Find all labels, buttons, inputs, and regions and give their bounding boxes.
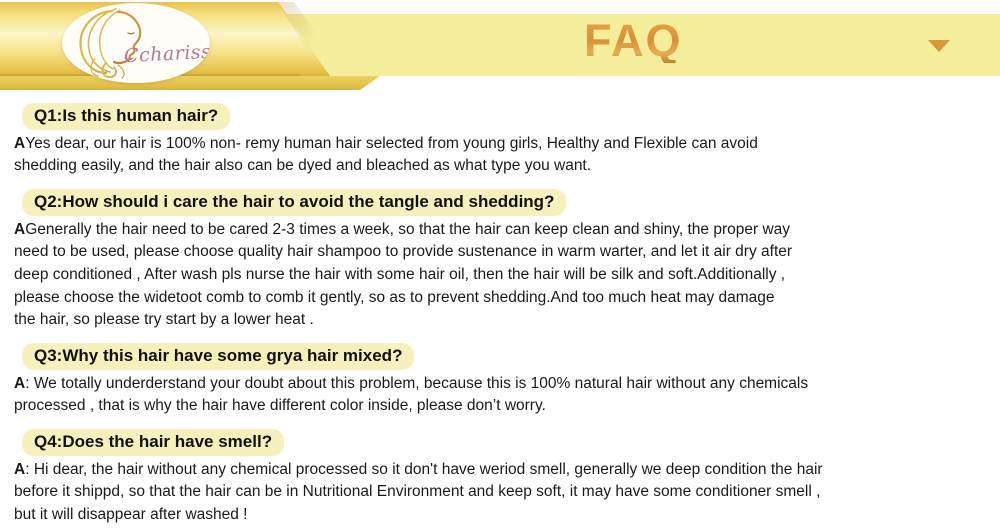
faq-item-2: Q2:How should i care the hair to avoid t…	[0, 189, 1000, 332]
answer-line-2-2: need to be used, please choose quality h…	[14, 241, 986, 264]
answer-line-4-2: before it shippd, so that the hair can b…	[14, 481, 986, 504]
faq-content: Q1:Is this human hair? AYes dear, our ha…	[0, 95, 1000, 527]
answer-lead-3: A	[14, 375, 25, 392]
answer-line-3-2: processed , that is why the hair have di…	[14, 395, 986, 418]
faq-question-3[interactable]: Q3:Why this hair have some grya hair mix…	[22, 343, 414, 370]
answer-line-1-2: shedding easily, and the hair also can b…	[14, 155, 986, 178]
answer-line-1-1: Yes dear, our hair is 100% non- remy hum…	[25, 135, 758, 152]
faq-page: Cchariss FAQ Q1:Is this human hair? AYes…	[0, 0, 1000, 530]
answer-line-4-3: but it will disappear after washed !	[14, 504, 986, 527]
faq-question-1[interactable]: Q1:Is this human hair?	[22, 103, 230, 130]
answer-line-2-3: deep conditioned , After wash pls nurse …	[14, 264, 986, 287]
answer-line-4-1: : Hi dear, the hair without any chemical…	[25, 461, 822, 478]
answer-lead-2: A	[14, 221, 25, 238]
faq-banner: Cchariss FAQ	[0, 0, 1000, 95]
page-title: FAQ	[584, 18, 683, 63]
brand-wordmark: Cchariss	[123, 41, 210, 68]
faq-item-3: Q3:Why this hair have some grya hair mix…	[0, 343, 1000, 418]
answer-lead-1: A	[14, 135, 25, 152]
answer-line-2-5: the hair, so please try start by a lower…	[14, 309, 986, 332]
faq-item-4: Q4:Does the hair have smell? A: Hi dear,…	[0, 429, 1000, 527]
faq-answer-1: AYes dear, our hair is 100% non- remy hu…	[14, 133, 986, 178]
answer-line-2-4: please choose the widetoot comb to comb …	[14, 287, 986, 310]
faq-item-1: Q1:Is this human hair? AYes dear, our ha…	[0, 103, 1000, 178]
brand-logo-badge: Cchariss	[62, 3, 210, 83]
chevron-down-icon[interactable]	[928, 40, 950, 52]
answer-line-3-1: : We totally underderstand your doubt ab…	[25, 375, 808, 392]
faq-answer-3: A: We totally underderstand your doubt a…	[14, 373, 986, 418]
answer-lead-4: A	[14, 461, 25, 478]
faq-question-4[interactable]: Q4:Does the hair have smell?	[22, 429, 284, 456]
faq-question-2[interactable]: Q2:How should i care the hair to avoid t…	[22, 189, 566, 216]
answer-line-2-1: Generally the hair need to be cared 2-3 …	[25, 221, 790, 238]
faq-answer-4: A: Hi dear, the hair without any chemica…	[14, 459, 986, 527]
faq-answer-2: AGenerally the hair need to be cared 2-3…	[14, 219, 986, 332]
